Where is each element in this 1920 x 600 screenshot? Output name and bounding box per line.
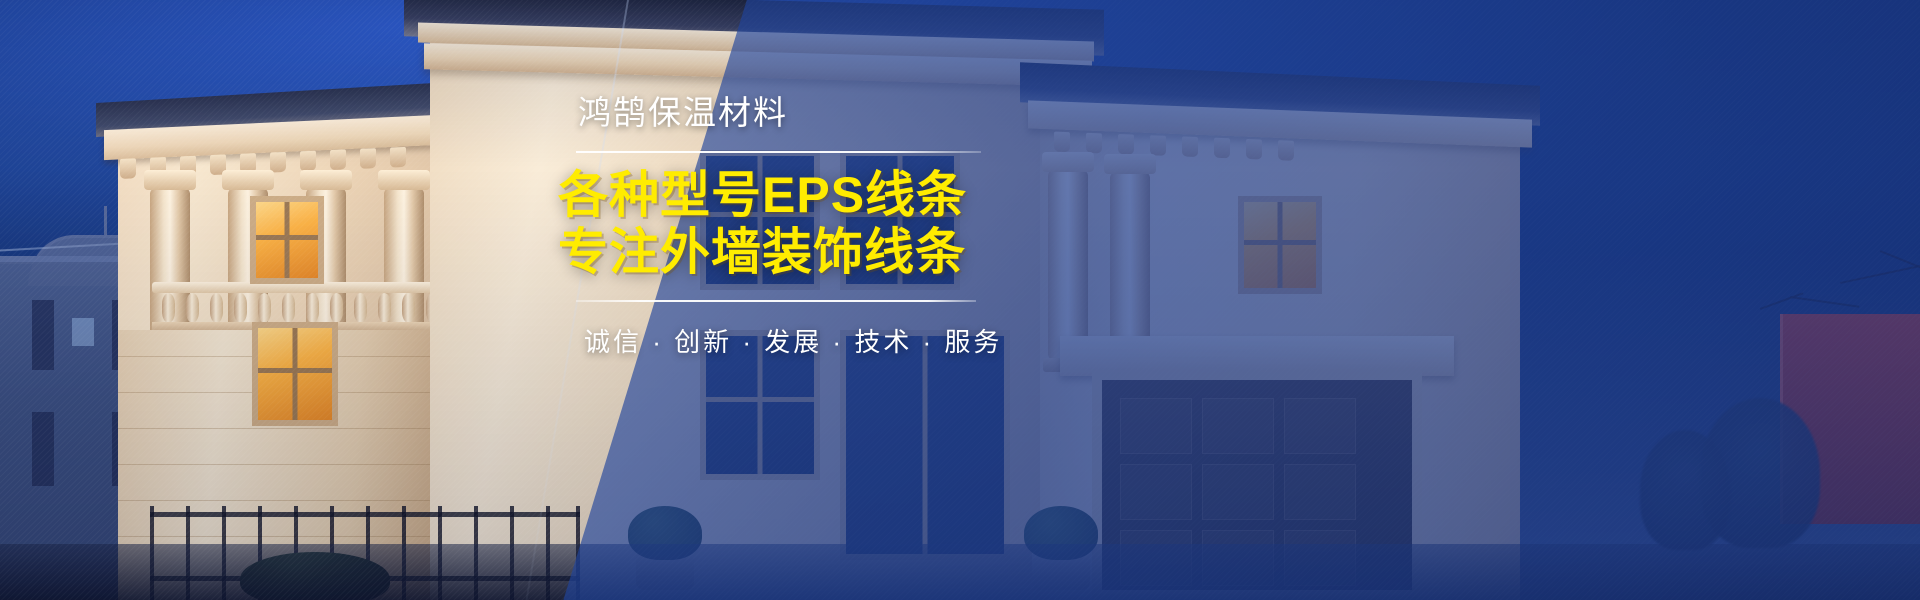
tagline: 诚信 · 创新 · 发展 · 技术 · 服务 [556,322,1016,359]
headline-line-1: 各种型号EPS线条 [556,167,1016,224]
promo-banner: 鸿鹄保温材料 各种型号EPS线条 专注外墙装饰线条 诚信 · 创新 · 发展 ·… [0,0,1920,600]
banner-copy: 鸿鹄保温材料 各种型号EPS线条 专注外墙装饰线条 诚信 · 创新 · 发展 ·… [556,96,1016,426]
brand-name: 鸿鹄保温材料 [556,96,1016,129]
headline: 各种型号EPS线条 专注外墙装饰线条 [556,167,1016,280]
headline-line-2: 专注外墙装饰线条 [556,224,1016,281]
divider-bottom [576,300,976,302]
divider-top [576,151,981,153]
